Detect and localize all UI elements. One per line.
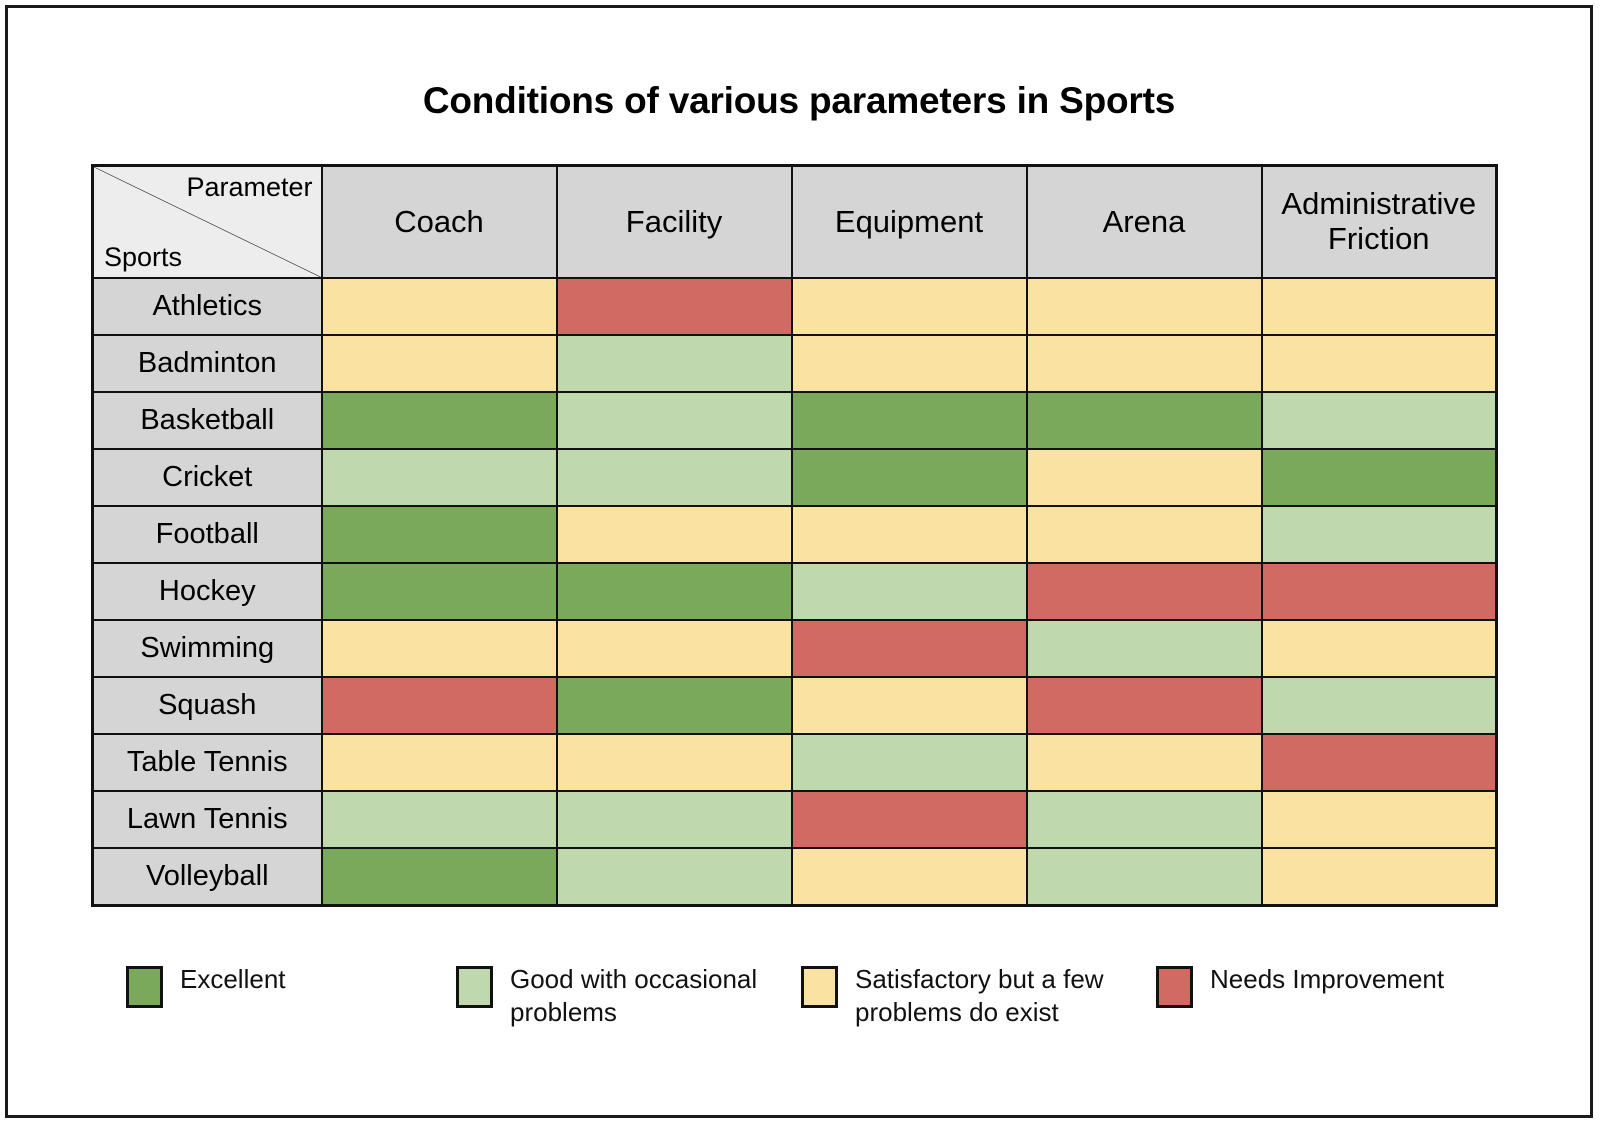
- heatmap-cell: [1027, 278, 1262, 335]
- heatmap-cell: [557, 278, 792, 335]
- heatmap-cell: [1027, 734, 1262, 791]
- heatmap-cell: [1262, 734, 1497, 791]
- page-title: Conditions of various parameters in Spor…: [8, 80, 1590, 122]
- row-header-athletics: Athletics: [93, 278, 322, 335]
- table-body: AthleticsBadmintonBasketballCricketFootb…: [93, 278, 1497, 906]
- heatmap-cell: [792, 734, 1027, 791]
- heatmap-cell: [557, 677, 792, 734]
- heatmap-cell: [1262, 335, 1497, 392]
- legend-swatch-needs: [1156, 966, 1193, 1008]
- heatmap-cell: [557, 506, 792, 563]
- heatmap-cell: [1262, 278, 1497, 335]
- row-header-swimming: Swimming: [93, 620, 322, 677]
- heatmap-cell: [1027, 563, 1262, 620]
- table-row: Swimming: [93, 620, 1497, 677]
- heatmap-cell: [322, 677, 557, 734]
- heatmap-cell: [792, 506, 1027, 563]
- heatmap-cell: [792, 677, 1027, 734]
- heatmap-cell: [1262, 449, 1497, 506]
- legend-label-excellent: Excellent: [180, 963, 286, 996]
- row-header-cricket: Cricket: [93, 449, 322, 506]
- heatmap-cell: [557, 449, 792, 506]
- conditions-table: Parameter Sports Coach Facility Equipmen…: [91, 164, 1498, 907]
- heatmap-cell: [1027, 335, 1262, 392]
- table-row: Lawn Tennis: [93, 791, 1497, 848]
- row-header-lawn-tennis: Lawn Tennis: [93, 791, 322, 848]
- table-head: Parameter Sports Coach Facility Equipmen…: [93, 166, 1497, 279]
- heatmap-cell: [322, 278, 557, 335]
- column-header-facility: Facility: [557, 166, 792, 279]
- heatmap-cell: [322, 620, 557, 677]
- row-header-football: Football: [93, 506, 322, 563]
- legend-item-satisfactory: Satisfactory but a few problems do exist: [801, 963, 1156, 1030]
- heatmap-cell: [792, 791, 1027, 848]
- column-header-equipment: Equipment: [792, 166, 1027, 279]
- corner-parameter-label: Parameter: [186, 173, 312, 201]
- heatmap-cell: [1027, 620, 1262, 677]
- heatmap-cell: [322, 734, 557, 791]
- heatmap-matrix: Parameter Sports Coach Facility Equipmen…: [91, 164, 1497, 883]
- heatmap-cell: [792, 278, 1027, 335]
- table-row: Badminton: [93, 335, 1497, 392]
- legend-swatch-satisfactory: [801, 966, 838, 1008]
- heatmap-cell: [792, 449, 1027, 506]
- heatmap-cell: [1262, 506, 1497, 563]
- legend-swatch-good: [456, 966, 493, 1008]
- heatmap-cell: [557, 563, 792, 620]
- heatmap-cell: [1262, 563, 1497, 620]
- heatmap-cell: [322, 791, 557, 848]
- page-frame: Conditions of various parameters in Spor…: [5, 5, 1593, 1118]
- legend-label-satisfactory: Satisfactory but a few problems do exist: [855, 963, 1123, 1030]
- table-row: Football: [93, 506, 1497, 563]
- heatmap-cell: [792, 563, 1027, 620]
- heatmap-cell: [557, 620, 792, 677]
- header-row: Parameter Sports Coach Facility Equipmen…: [93, 166, 1497, 279]
- column-header-administrative-friction: Administrative Friction: [1262, 166, 1497, 279]
- legend-item-good: Good with occasional problems: [456, 963, 801, 1030]
- heatmap-cell: [1027, 677, 1262, 734]
- heatmap-cell: [792, 848, 1027, 906]
- heatmap-cell: [1262, 620, 1497, 677]
- heatmap-cell: [322, 392, 557, 449]
- row-header-basketball: Basketball: [93, 392, 322, 449]
- row-header-squash: Squash: [93, 677, 322, 734]
- heatmap-cell: [322, 848, 557, 906]
- row-header-hockey: Hockey: [93, 563, 322, 620]
- legend-item-needs: Needs Improvement: [1156, 963, 1476, 1008]
- corner-sports-label: Sports: [104, 243, 182, 271]
- heatmap-cell: [1027, 506, 1262, 563]
- column-header-coach: Coach: [322, 166, 557, 279]
- table-row: Athletics: [93, 278, 1497, 335]
- legend-label-needs: Needs Improvement: [1210, 963, 1444, 996]
- table-row: Basketball: [93, 392, 1497, 449]
- heatmap-cell: [557, 791, 792, 848]
- heatmap-cell: [557, 335, 792, 392]
- legend: ExcellentGood with occasional problemsSa…: [126, 963, 1506, 1030]
- heatmap-cell: [557, 392, 792, 449]
- heatmap-cell: [1027, 848, 1262, 906]
- heatmap-cell: [322, 449, 557, 506]
- table-row: Cricket: [93, 449, 1497, 506]
- heatmap-cell: [322, 506, 557, 563]
- legend-swatch-excellent: [126, 966, 163, 1008]
- heatmap-cell: [1027, 449, 1262, 506]
- heatmap-cell: [1262, 848, 1497, 906]
- table-row: Table Tennis: [93, 734, 1497, 791]
- heatmap-cell: [1027, 392, 1262, 449]
- legend-item-excellent: Excellent: [126, 963, 456, 1008]
- heatmap-cell: [1027, 791, 1262, 848]
- heatmap-cell: [1262, 392, 1497, 449]
- heatmap-cell: [1262, 677, 1497, 734]
- table-row: Hockey: [93, 563, 1497, 620]
- corner-header-cell: Parameter Sports: [93, 166, 322, 279]
- table-row: Volleyball: [93, 848, 1497, 906]
- heatmap-cell: [557, 734, 792, 791]
- row-header-table-tennis: Table Tennis: [93, 734, 322, 791]
- column-header-arena: Arena: [1027, 166, 1262, 279]
- heatmap-cell: [792, 335, 1027, 392]
- table-row: Squash: [93, 677, 1497, 734]
- row-header-volleyball: Volleyball: [93, 848, 322, 906]
- row-header-badminton: Badminton: [93, 335, 322, 392]
- heatmap-cell: [1262, 791, 1497, 848]
- heatmap-cell: [322, 335, 557, 392]
- heatmap-cell: [792, 392, 1027, 449]
- heatmap-cell: [557, 848, 792, 906]
- legend-label-good: Good with occasional problems: [510, 963, 778, 1030]
- heatmap-cell: [792, 620, 1027, 677]
- heatmap-cell: [322, 563, 557, 620]
